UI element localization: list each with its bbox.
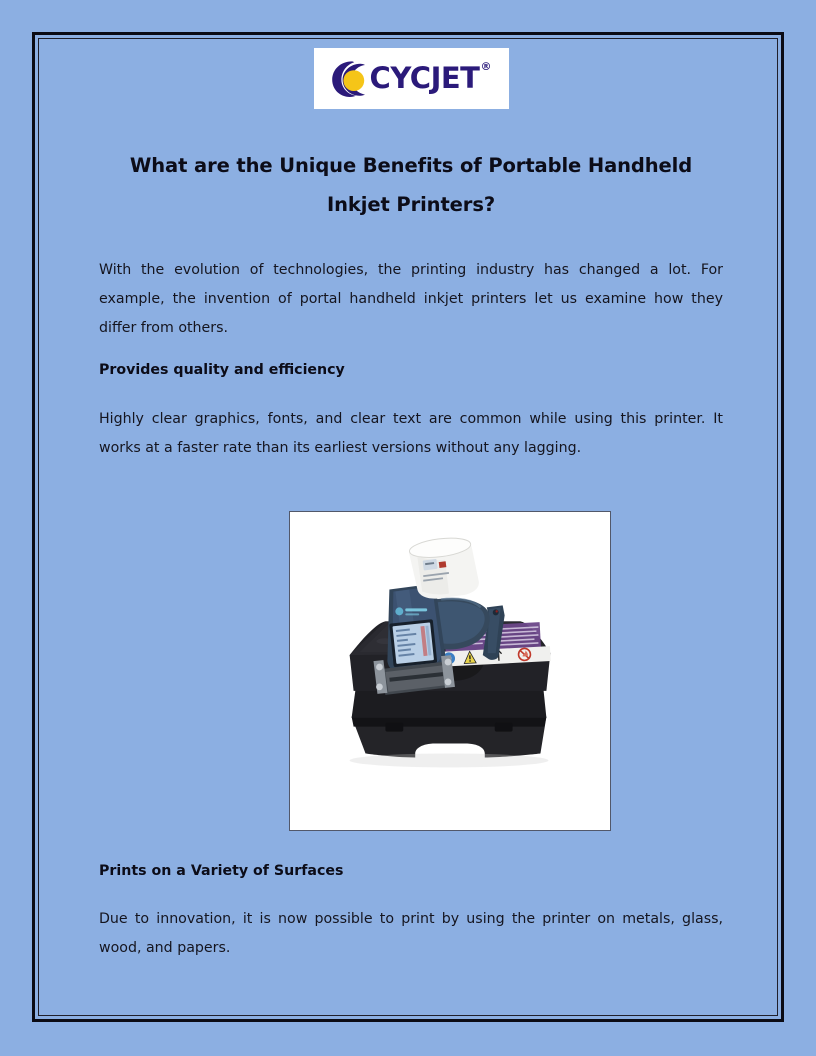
quality-paragraph: Highly clear graphics, fonts, and clear …	[99, 405, 723, 463]
registered-trademark-icon: ®	[480, 60, 491, 73]
product-image	[289, 511, 611, 831]
section-heading-surfaces: Prints on a Variety of Surfaces	[99, 860, 723, 882]
logo-wordmark: CYCJET	[370, 64, 480, 93]
handheld-inkjet-printer-illustration	[290, 512, 610, 830]
page-border-frame: CYCJET ® What are the Unique Benefits of…	[32, 32, 784, 1022]
page-title-line-2: Inkjet Printers?	[327, 193, 495, 216]
ink-cartridge	[408, 535, 479, 598]
cycjet-crescent-logo-icon	[329, 59, 369, 99]
page-title: What are the Unique Benefits of Portable…	[91, 146, 731, 224]
brand-logo: CYCJET ®	[314, 48, 509, 109]
intro-paragraph: With the evolution of technologies, the …	[99, 256, 723, 343]
page-title-line-1: What are the Unique Benefits of Portable…	[130, 154, 692, 177]
surfaces-paragraph: Due to innovation, it is now possible to…	[99, 905, 723, 963]
section-heading-quality: Provides quality and efficiency	[99, 359, 723, 381]
document-content: CYCJET ® What are the Unique Benefits of…	[35, 35, 787, 1025]
